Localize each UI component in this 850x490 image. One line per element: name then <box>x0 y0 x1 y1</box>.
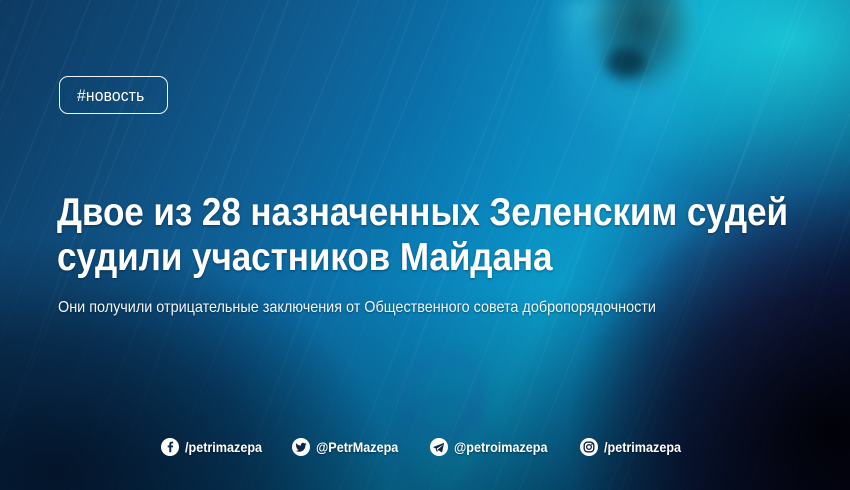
social-handle-facebook: /petrimazepa <box>185 438 262 456</box>
social-link-instagram[interactable]: /petrimazepa <box>580 438 690 456</box>
headline-line-2: судили участников Майдана <box>57 235 741 280</box>
hashtag-badge[interactable]: #новость <box>59 76 168 114</box>
news-card: #новость Двое из 28 назначенных Зеленски… <box>0 0 850 490</box>
instagram-icon <box>580 438 598 456</box>
twitter-icon <box>292 438 310 456</box>
social-link-facebook[interactable]: /petrimazepa <box>161 438 271 456</box>
social-handle-twitter: @PetrMazepa <box>316 438 398 456</box>
hashtag-badge-label: #новость <box>77 87 144 104</box>
social-links-bar: /petrimazepa @PetrMazepa @petroimazepa <box>0 438 850 456</box>
page-title: Двое из 28 назначенных Зеленским судей с… <box>57 190 817 280</box>
social-link-twitter[interactable]: @PetrMazepa <box>292 438 407 456</box>
telegram-icon <box>430 438 448 456</box>
social-link-telegram[interactable]: @petroimazepa <box>430 438 558 456</box>
social-handle-telegram: @petroimazepa <box>454 438 548 456</box>
facebook-icon <box>161 438 179 456</box>
social-handle-instagram: /petrimazepa <box>604 438 681 456</box>
card-content: #новость Двое из 28 назначенных Зеленски… <box>0 0 850 490</box>
subtitle: Они получили отрицательные заключения от… <box>58 298 656 318</box>
headline-line-1: Двое из 28 назначенных Зеленским судей <box>57 190 741 235</box>
